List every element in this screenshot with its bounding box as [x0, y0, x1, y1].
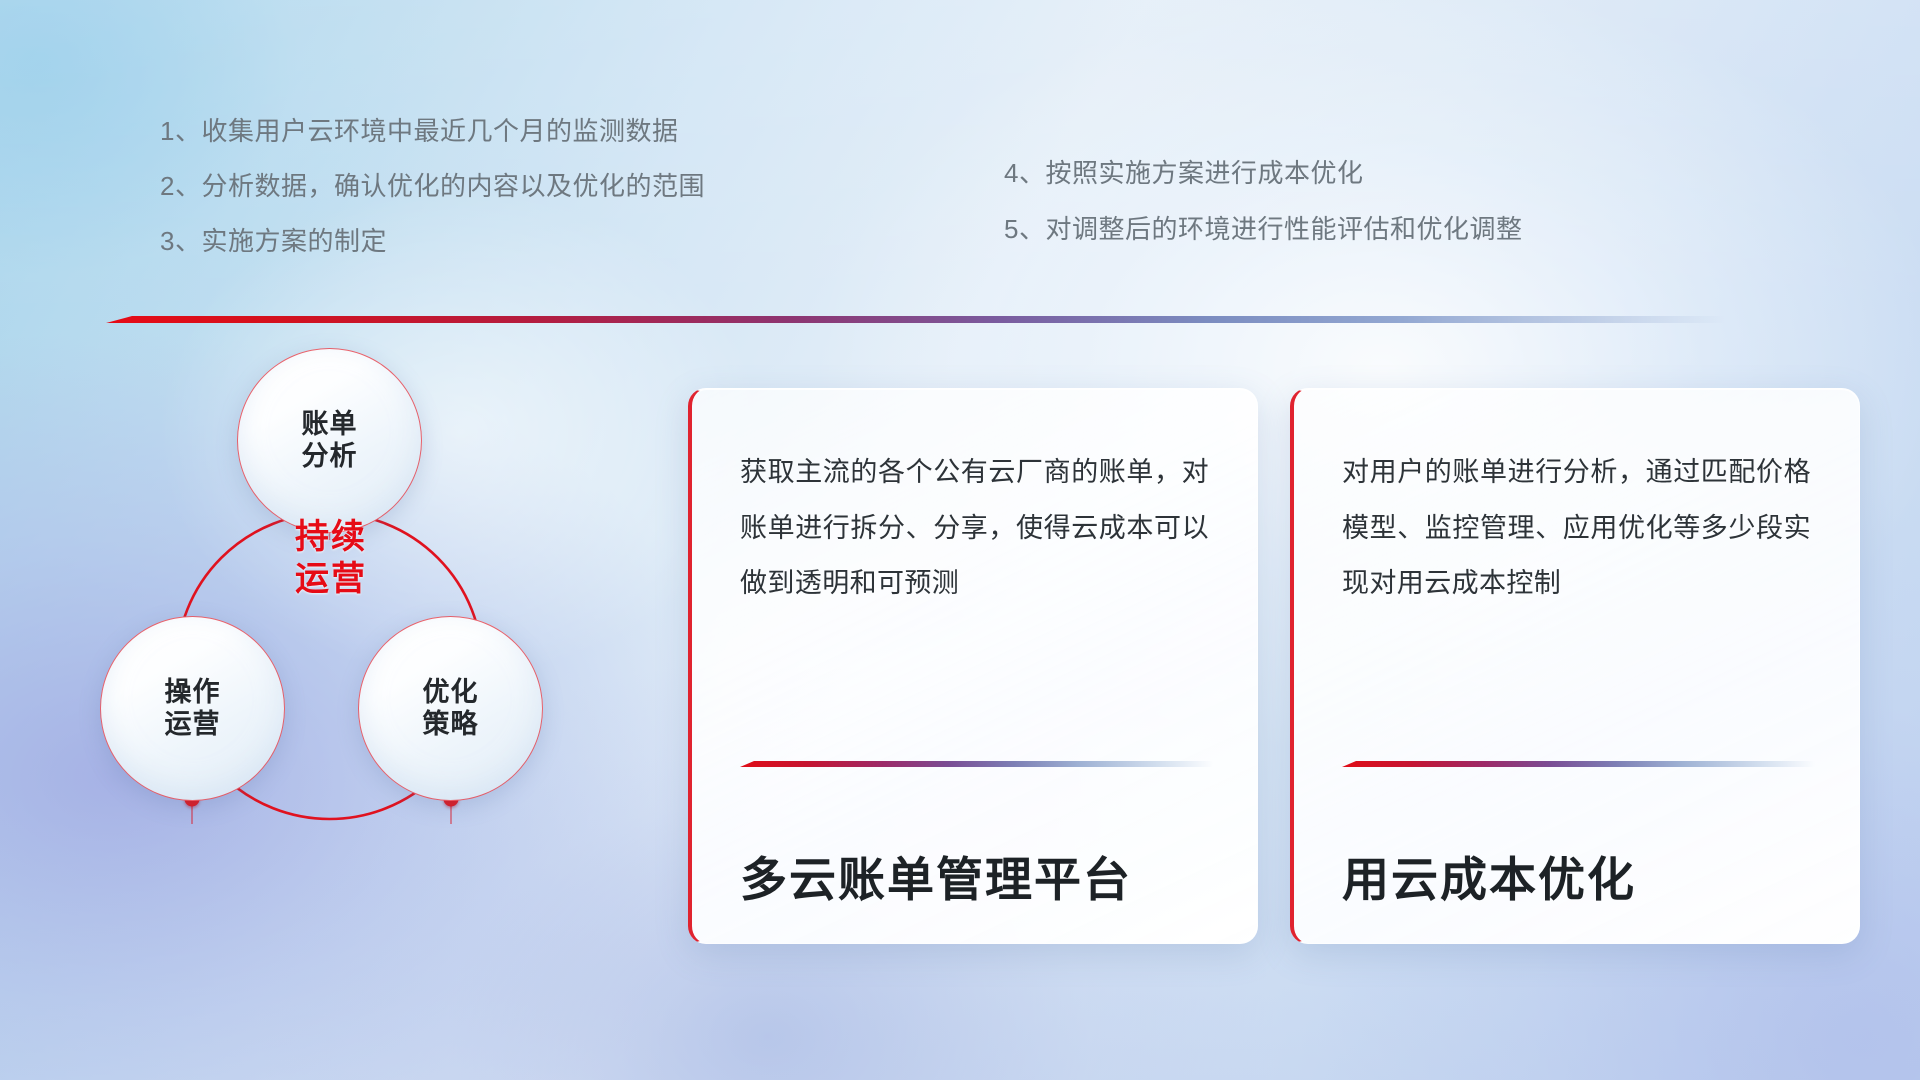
- diagram-bubble-bill-analysis[interactable]: 账单 分析: [237, 348, 422, 533]
- card-accent-rule: [1342, 761, 1815, 767]
- feature-card-multicloud-billing[interactable]: 获取主流的各个公有云厂商的账单，对账单进行拆分、分享，使得云成本可以做到透明和可…: [688, 388, 1258, 944]
- step-item-3: 3、实施方案的制定: [160, 228, 705, 254]
- process-steps-section: 1、收集用户云环境中最近几个月的监测数据 2、分析数据，确认优化的内容以及优化的…: [0, 118, 1920, 298]
- section-divider: [106, 316, 1726, 326]
- center-label-line-1: 持续: [231, 516, 431, 558]
- card-accent-rule: [740, 761, 1213, 767]
- bubble-label-bill-analysis: 账单 分析: [302, 409, 358, 473]
- bubble-label-operations: 操作 运营: [165, 677, 221, 741]
- steps-right-column: 4、按照实施方案进行成本优化 5、对调整后的环境进行性能评估和优化调整: [1004, 160, 1522, 272]
- feature-card-cloud-cost-optimization[interactable]: 对用户的账单进行分析，通过匹配价格模型、监控管理、应用优化等多少段实现对用云成本…: [1290, 388, 1860, 944]
- continuous-operation-diagram: 账单 分析 操作 运营 优化 策略 持续 运营: [100, 348, 660, 968]
- diagram-center-label: 持续 运营: [231, 516, 431, 600]
- step-item-5: 5、对调整后的环境进行性能评估和优化调整: [1004, 216, 1522, 242]
- step-item-2: 2、分析数据，确认优化的内容以及优化的范围: [160, 173, 705, 199]
- step-item-1: 1、收集用户云环境中最近几个月的监测数据: [160, 118, 705, 144]
- diagram-bubble-optimization-strategy[interactable]: 优化 策略: [358, 616, 543, 801]
- bubble-label-optimization-strategy: 优化 策略: [423, 677, 479, 741]
- card-title: 用云成本优化: [1342, 841, 1636, 910]
- divider-gradient-bar: [106, 316, 1726, 323]
- card-title: 多云账单管理平台: [740, 841, 1132, 910]
- steps-left-column: 1、收集用户云环境中最近几个月的监测数据 2、分析数据，确认优化的内容以及优化的…: [160, 118, 705, 283]
- card-body-text: 对用户的账单进行分析，通过匹配价格模型、监控管理、应用优化等多少段实现对用云成本…: [1342, 445, 1811, 612]
- diagram-bubble-operations[interactable]: 操作 运营: [100, 616, 285, 801]
- card-body-text: 获取主流的各个公有云厂商的账单，对账单进行拆分、分享，使得云成本可以做到透明和可…: [740, 445, 1209, 612]
- step-item-4: 4、按照实施方案进行成本优化: [1004, 160, 1522, 186]
- center-label-line-2: 运营: [231, 558, 431, 600]
